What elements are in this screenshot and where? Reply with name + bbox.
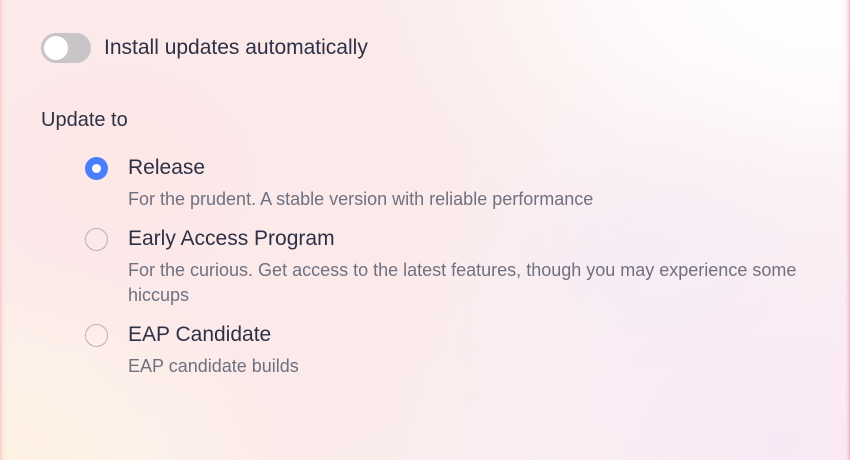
radio-button-release-icon[interactable]	[85, 157, 108, 180]
install-updates-automatically-toggle[interactable]	[41, 33, 91, 63]
radio-option-early-access-program[interactable]: Early Access Program For the curious. Ge…	[0, 226, 850, 308]
radio-option-eap-candidate-head[interactable]: EAP Candidate	[0, 322, 850, 348]
install-updates-automatically-label: Install updates automatically	[104, 33, 368, 63]
update-settings-panel: Install updates automatically Update to …	[0, 0, 850, 460]
radio-button-early-access-program-icon[interactable]	[85, 228, 108, 251]
radio-option-eap-candidate-label: EAP Candidate	[128, 322, 271, 348]
radio-option-early-access-program-label: Early Access Program	[128, 226, 335, 252]
radio-option-release-description: For the prudent. A stable version with r…	[128, 187, 800, 212]
radio-option-release-head[interactable]: Release	[0, 155, 850, 181]
radio-option-early-access-program-head[interactable]: Early Access Program	[0, 226, 850, 252]
install-updates-automatically-row[interactable]: Install updates automatically	[41, 33, 368, 63]
update-to-heading: Update to	[41, 107, 128, 133]
radio-option-eap-candidate[interactable]: EAP Candidate EAP candidate builds	[0, 322, 850, 379]
toggle-knob-icon	[44, 36, 68, 60]
update-channel-radio-group: Release For the prudent. A stable versio…	[0, 155, 850, 393]
radio-option-eap-candidate-description: EAP candidate builds	[128, 354, 800, 379]
radio-option-early-access-program-description: For the curious. Get access to the lates…	[128, 258, 800, 308]
radio-button-eap-candidate-icon[interactable]	[85, 324, 108, 347]
radio-option-release[interactable]: Release For the prudent. A stable versio…	[0, 155, 850, 212]
radio-option-release-label: Release	[128, 155, 205, 181]
